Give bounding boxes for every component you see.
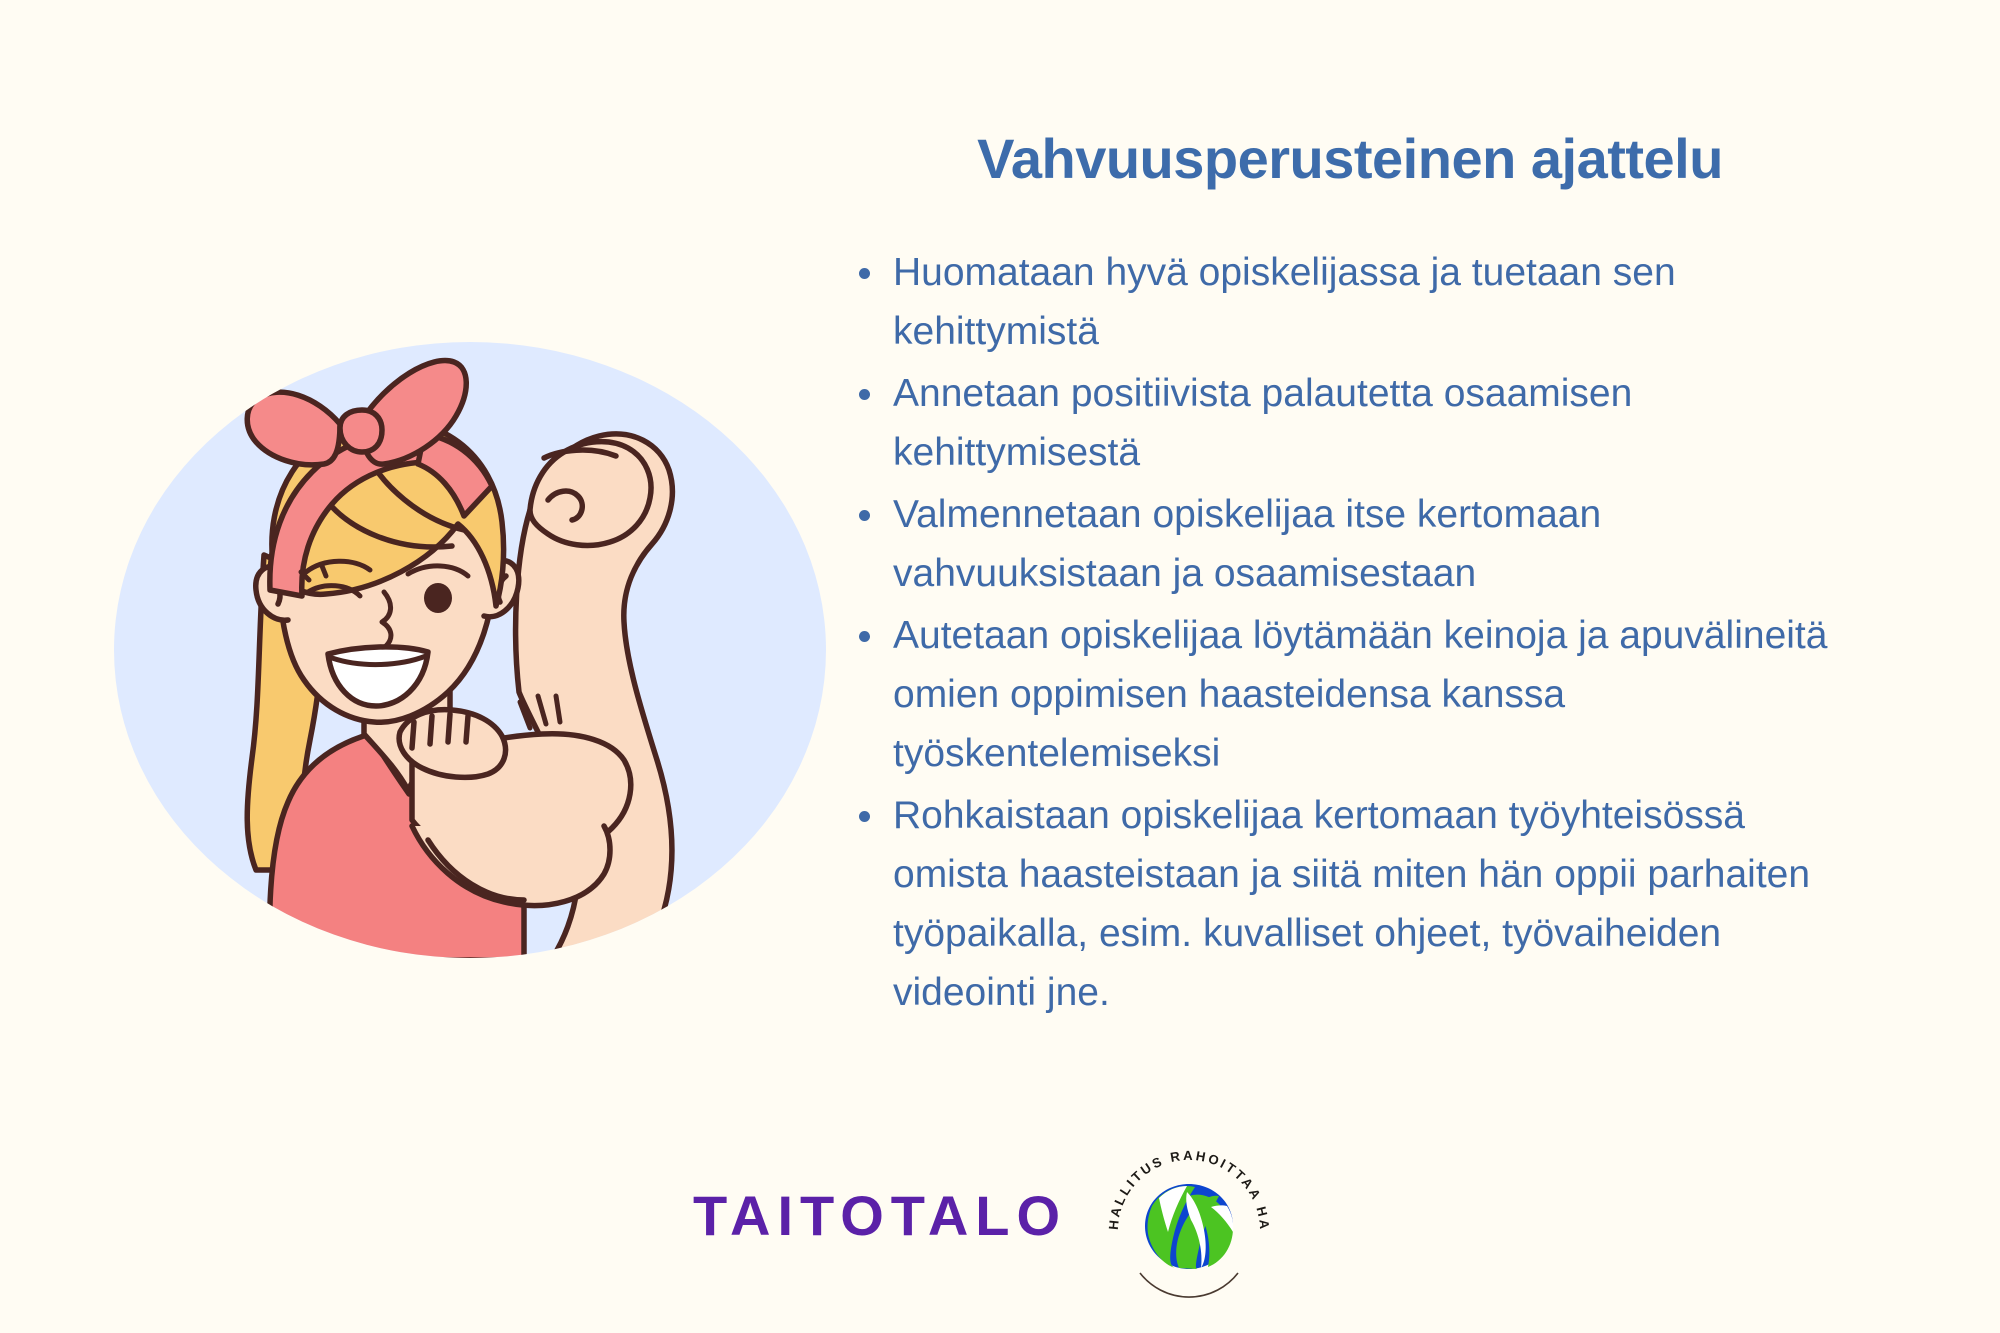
list-item: Valmennetaan opiskelijaa itse kertomaan … bbox=[845, 485, 1855, 603]
list-item-text: Valmennetaan opiskelijaa itse kertomaan … bbox=[893, 493, 1601, 595]
opetushallitus-seal-logo: OPETUSHALLITUS RAHOITTAA HANKETTA bbox=[1098, 1140, 1280, 1322]
seal-bottom-arc bbox=[1140, 1273, 1238, 1297]
bullet-dot-icon bbox=[859, 510, 870, 521]
taitotalo-logo: TAITOTALO bbox=[693, 1188, 1067, 1244]
list-item: Rohkaistaan opiskelijaa kertomaan työyht… bbox=[845, 786, 1855, 1022]
bullet-dot-icon bbox=[859, 268, 870, 279]
flexing-woman-illustration bbox=[112, 340, 828, 960]
seal-mark-icon bbox=[1145, 1184, 1233, 1269]
list-item-text: Huomataan hyvä opiskelijassa ja tuetaan … bbox=[893, 251, 1676, 353]
content-column: Vahvuusperusteinen ajattelu Huomataan hy… bbox=[845, 128, 1855, 1025]
bullet-dot-icon bbox=[859, 811, 870, 822]
list-item: Annetaan positiivista palautetta osaamis… bbox=[845, 364, 1855, 482]
footer-logos: TAITOTALO OPETUSHALLITUS RAHOITTAA HANKE… bbox=[0, 1140, 2000, 1330]
bow-knot bbox=[340, 410, 382, 452]
list-item: Autetaan opiskelijaa löytämään keinoja j… bbox=[845, 606, 1855, 783]
list-item: Huomataan hyvä opiskelijassa ja tuetaan … bbox=[845, 243, 1855, 361]
list-item-text: Annetaan positiivista palautetta osaamis… bbox=[893, 372, 1632, 474]
list-item-text: Autetaan opiskelijaa löytämään keinoja j… bbox=[893, 614, 1827, 775]
open-eye bbox=[424, 583, 452, 613]
page-title: Vahvuusperusteinen ajattelu bbox=[845, 128, 1855, 191]
bullet-dot-icon bbox=[859, 631, 870, 642]
slide-canvas: Vahvuusperusteinen ajattelu Huomataan hy… bbox=[0, 0, 2000, 1333]
bullet-list: Huomataan hyvä opiskelijassa ja tuetaan … bbox=[845, 243, 1855, 1022]
list-item-text: Rohkaistaan opiskelijaa kertomaan työyht… bbox=[893, 794, 1810, 1014]
bullet-dot-icon bbox=[859, 389, 870, 400]
